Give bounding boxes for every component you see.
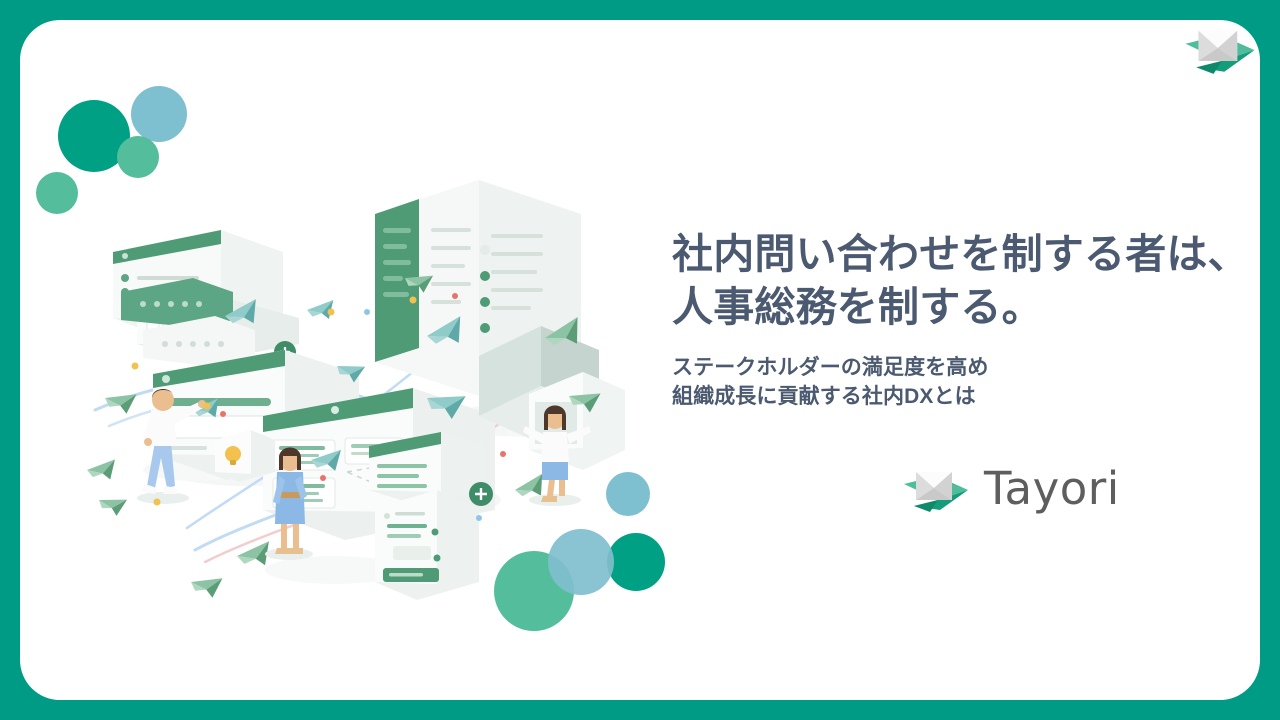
brand-wordmark: Tayori	[984, 466, 1120, 511]
illustration-phone-chat	[375, 490, 479, 600]
text-block: 社内問い合わせを制する者は、 人事総務を制する。 ステークホルダーの満足度を高め…	[672, 228, 1252, 412]
slide-panel: 社内問い合わせを制する者は、 人事総務を制する。 ステークホルダーの満足度を高め…	[20, 20, 1260, 700]
corner-tayori-envelope-plane-icon	[1178, 20, 1262, 76]
slide-root: 社内問い合わせを制する者は、 人事総務を制する。 ステークホルダーの満足度を高め…	[0, 0, 1280, 720]
tayori-envelope-plane-icon	[900, 462, 972, 514]
page-subtitle: ステークホルダーの満足度を高め 組織成長に貢献する社内DXとは	[672, 353, 1252, 413]
circle-top-left-green-small	[36, 172, 78, 214]
illustration-idea-card	[215, 430, 275, 482]
brand-lockup: Tayori	[900, 462, 1120, 514]
isometric-internal-inquiry-illustration	[75, 170, 675, 600]
page-title: 社内問い合わせを制する者は、 人事総務を制する。	[672, 228, 1252, 335]
circle-top-left-blue	[131, 86, 187, 142]
